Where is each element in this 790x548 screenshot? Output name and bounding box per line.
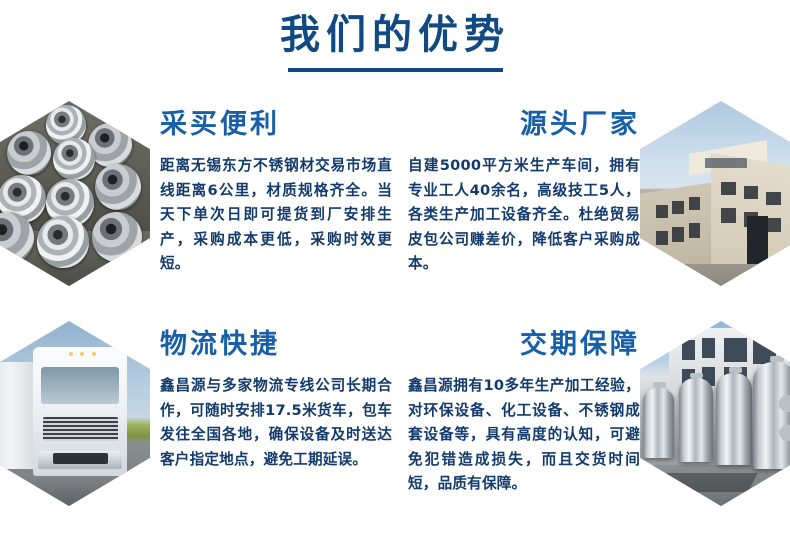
feature-text-procurement: 采买便利 距离无锡东方不锈钢材交易市场直线距离6公里，材质规格齐全。当天下单次日… <box>160 109 392 277</box>
feature-block-source-factory: 源头厂家 自建5000平方米生产车间，拥有专业工人40余名，高级技工5人，各类生… <box>395 95 790 320</box>
page-title: 我们的优势 <box>0 12 790 58</box>
feature-heading: 交期保障 <box>408 329 640 361</box>
title-underline-rule <box>288 68 503 72</box>
stainless-tanks-photo <box>640 321 790 506</box>
feature-body: 自建5000平方米生产车间，拥有专业工人40余名，高级技工5人，各类生产加工设备… <box>408 154 640 277</box>
feature-body: 鑫昌源拥有10多年生产加工经验，对环保设备、化工设备、不锈钢成套设备等，具有高度… <box>408 374 640 497</box>
feature-heading: 采买便利 <box>160 109 392 141</box>
feature-block-delivery-guarantee: 交期保障 鑫昌源拥有10多年生产加工经验，对环保设备、化工设备、不锈钢成套设备等… <box>395 315 790 540</box>
feature-body: 鑫昌源与多家物流专线公司长期合作，可随时安排17.5米货车，包车发往全国各地，确… <box>160 374 392 472</box>
factory-building-photo <box>640 101 790 286</box>
feature-block-procurement: 采买便利 距离无锡东方不锈钢材交易市场直线距离6公里，材质规格齐全。当天下单次日… <box>0 95 395 320</box>
factory-building-artwork <box>640 101 790 286</box>
feature-body: 距离无锡东方不锈钢材交易市场直线距离6公里，材质规格齐全。当天下单次日即可提货到… <box>160 154 392 277</box>
cargo-truck-photo <box>0 321 150 506</box>
feature-heading: 物流快捷 <box>160 329 392 361</box>
feature-heading: 源头厂家 <box>408 109 640 141</box>
stainless-tanks-artwork <box>640 321 790 506</box>
steel-coils-photo <box>0 101 150 286</box>
feature-text-source-factory: 源头厂家 自建5000平方米生产车间，拥有专业工人40余名，高级技工5人，各类生… <box>408 109 640 277</box>
feature-text-delivery-guarantee: 交期保障 鑫昌源拥有10多年生产加工经验，对环保设备、化工设备、不锈钢成套设备等… <box>408 329 640 497</box>
feature-block-logistics: 物流快捷 鑫昌源与多家物流专线公司长期合作，可随时安排17.5米货车，包车发往全… <box>0 315 395 540</box>
feature-text-logistics: 物流快捷 鑫昌源与多家物流专线公司长期合作，可随时安排17.5米货车，包车发往全… <box>160 329 392 472</box>
steel-coils-artwork <box>0 101 150 286</box>
cargo-truck-artwork <box>0 321 150 506</box>
page-title-block: 我们的优势 <box>0 12 790 72</box>
